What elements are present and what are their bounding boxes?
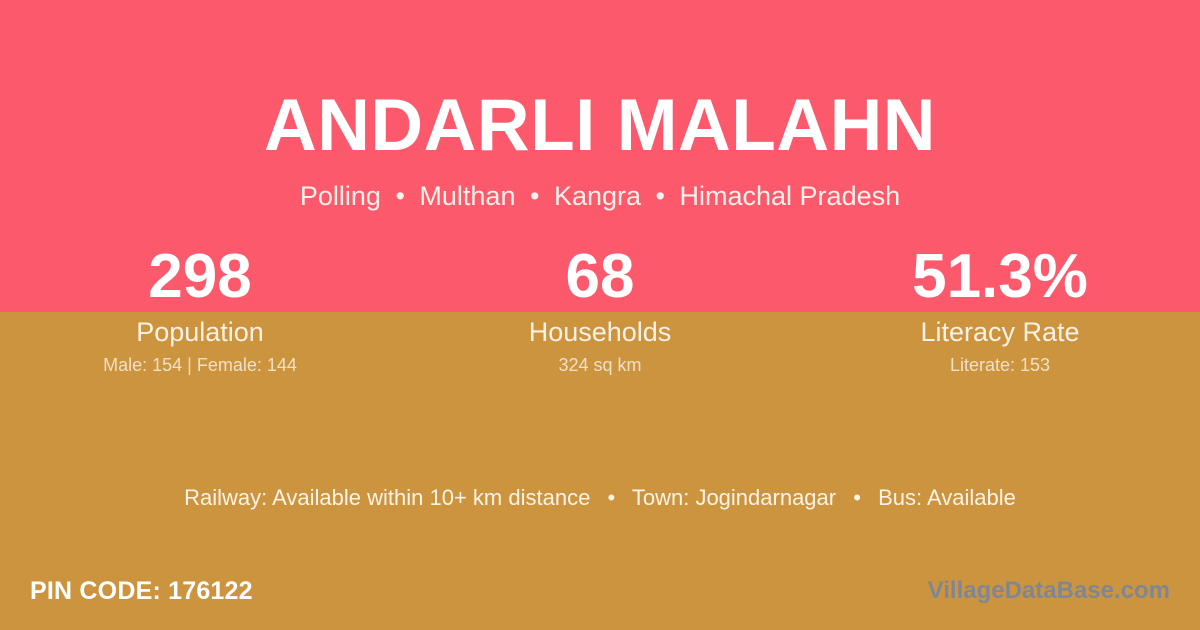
stat-sublabel: 324 sq km <box>400 354 800 376</box>
stat-population: 298 Population Male: 154 | Female: 144 <box>0 244 400 376</box>
breadcrumb-item-state: Himachal Pradesh <box>680 181 901 211</box>
amenity-railway: Railway: Available within 10+ km distanc… <box>184 485 590 510</box>
footer: PIN CODE: 176122 VillageDataBase.com <box>0 570 1200 612</box>
amenity-separator: • <box>596 485 626 510</box>
amenity-town: Town: Jogindarnagar <box>632 485 836 510</box>
stat-label: Population <box>0 316 400 348</box>
stat-value: 68 <box>400 244 800 310</box>
village-info-card: ANDARLI MALAHN Polling • Multhan • Kangr… <box>0 0 1200 630</box>
brand-logo: VillageDataBase.com <box>928 575 1170 607</box>
stat-label: Households <box>400 316 800 348</box>
stat-literacy-rate: 51.3% Literacy Rate Literate: 153 <box>800 244 1200 376</box>
stat-label: Literacy Rate <box>800 316 1200 348</box>
pin-code: PIN CODE: 176122 <box>30 575 253 607</box>
stats-row: 298 Population Male: 154 | Female: 144 6… <box>0 244 1200 376</box>
breadcrumb: Polling • Multhan • Kangra • Himachal Pr… <box>0 168 1200 213</box>
stat-sublabel: Literate: 153 <box>800 354 1200 376</box>
breadcrumb-separator: • <box>388 181 411 211</box>
breadcrumb-separator: • <box>649 181 672 211</box>
page-title: ANDARLI MALAHN <box>0 0 1200 168</box>
amenity-bus: Bus: Available <box>878 485 1016 510</box>
stat-sublabel: Male: 154 | Female: 144 <box>0 354 400 376</box>
amenities-line: Railway: Available within 10+ km distanc… <box>0 482 1200 514</box>
breadcrumb-item-type: Polling <box>300 181 381 211</box>
breadcrumb-separator: • <box>523 181 546 211</box>
amenity-separator: • <box>842 485 872 510</box>
breadcrumb-item-block: Multhan <box>419 181 515 211</box>
stat-households: 68 Households 324 sq km <box>400 244 800 376</box>
header: ANDARLI MALAHN Polling • Multhan • Kangr… <box>0 0 1200 213</box>
stat-value: 298 <box>0 244 400 310</box>
breadcrumb-item-district: Kangra <box>554 181 641 211</box>
stat-value: 51.3% <box>800 244 1200 310</box>
